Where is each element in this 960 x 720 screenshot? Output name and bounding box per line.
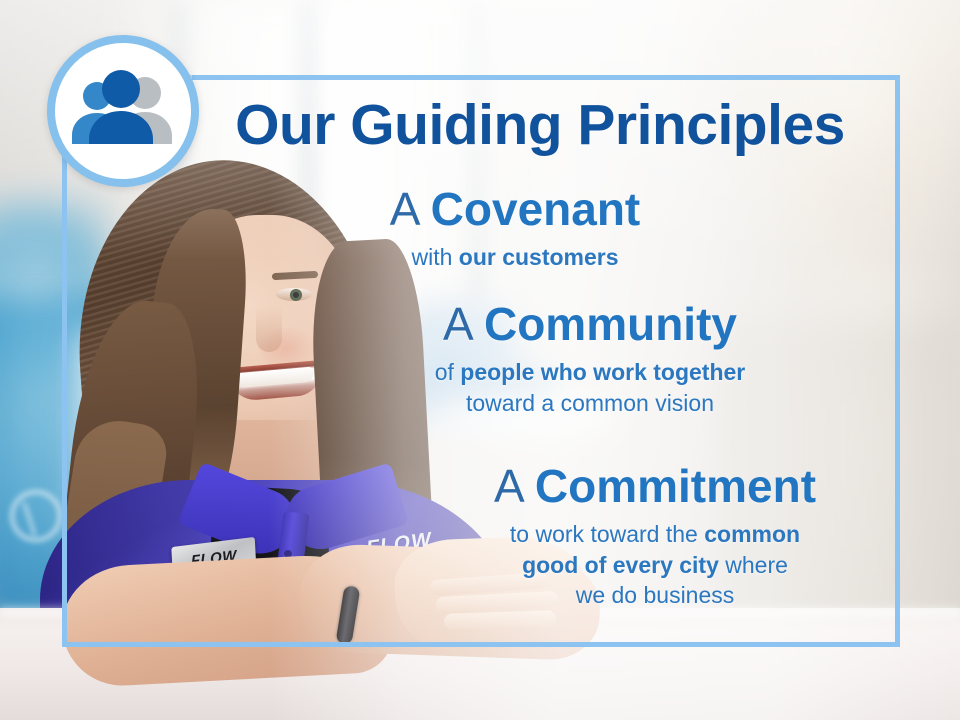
principle-subtext: with our customers <box>340 242 690 272</box>
guiding-principles-banner: FLOW FLOW AUTOMOTIVE <box>0 0 960 720</box>
subtext-run: we do business <box>576 582 735 608</box>
subtext-line: of people who work together <box>390 357 790 387</box>
principle-article: A <box>494 460 522 512</box>
principle-commitment: A Commitment to work toward the commongo… <box>440 462 870 610</box>
principle-keyword: Commitment <box>535 460 816 512</box>
people-group-badge <box>47 35 199 187</box>
subtext-emphasis: good of every city <box>522 552 719 578</box>
subtext-line: toward a common vision <box>390 388 790 418</box>
principle-subtext: of people who work togethertoward a comm… <box>390 357 790 418</box>
principle-keyword: Community <box>484 298 737 350</box>
principle-article: A <box>390 183 418 235</box>
principle-covenant: A Covenant with our customers <box>340 185 690 273</box>
principle-heading: A Covenant <box>340 185 690 233</box>
subtext-emphasis: our customers <box>459 244 619 270</box>
subtext-run: with <box>411 244 458 270</box>
subtext-run: toward a common vision <box>466 390 714 416</box>
principle-heading: A Community <box>390 300 790 348</box>
people-group-icon <box>67 70 179 152</box>
principle-subtext: to work toward the commongood of every c… <box>440 519 870 610</box>
principle-heading: A Commitment <box>440 462 870 510</box>
principle-keyword: Covenant <box>431 183 641 235</box>
subtext-line: we do business <box>440 580 870 610</box>
subtext-run: of <box>435 359 461 385</box>
principle-article: A <box>443 298 471 350</box>
subtext-line: good of every city where <box>440 550 870 580</box>
subtext-run: where <box>719 552 788 578</box>
principle-community: A Community of people who work togethert… <box>390 300 790 418</box>
subtext-line: with our customers <box>340 242 690 272</box>
subtext-emphasis: people who work together <box>460 359 745 385</box>
subtext-emphasis: common <box>704 521 800 547</box>
page-title: Our Guiding Principles <box>210 96 870 156</box>
subtext-run: to work toward the <box>510 521 704 547</box>
subtext-line: to work toward the common <box>440 519 870 549</box>
